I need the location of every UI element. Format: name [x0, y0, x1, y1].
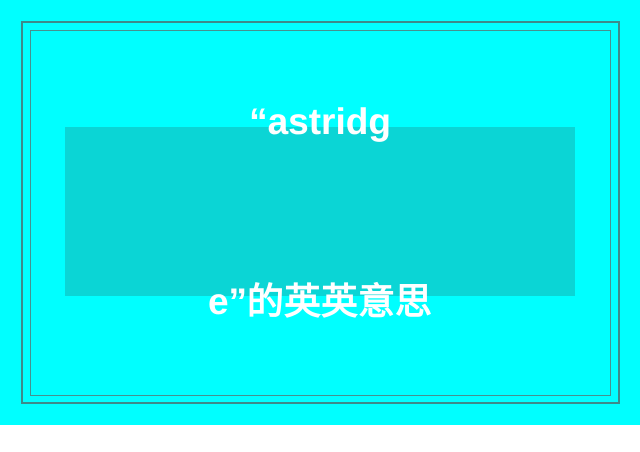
- title-plate: “astridg e”的英英意思: [65, 127, 575, 296]
- poster-canvas: “astridg e”的英英意思: [0, 0, 640, 425]
- title-line-1: “astridg: [208, 92, 432, 152]
- title-line-2: e”的英英意思: [208, 272, 432, 332]
- title-block: “astridg e”的英英意思: [208, 0, 432, 452]
